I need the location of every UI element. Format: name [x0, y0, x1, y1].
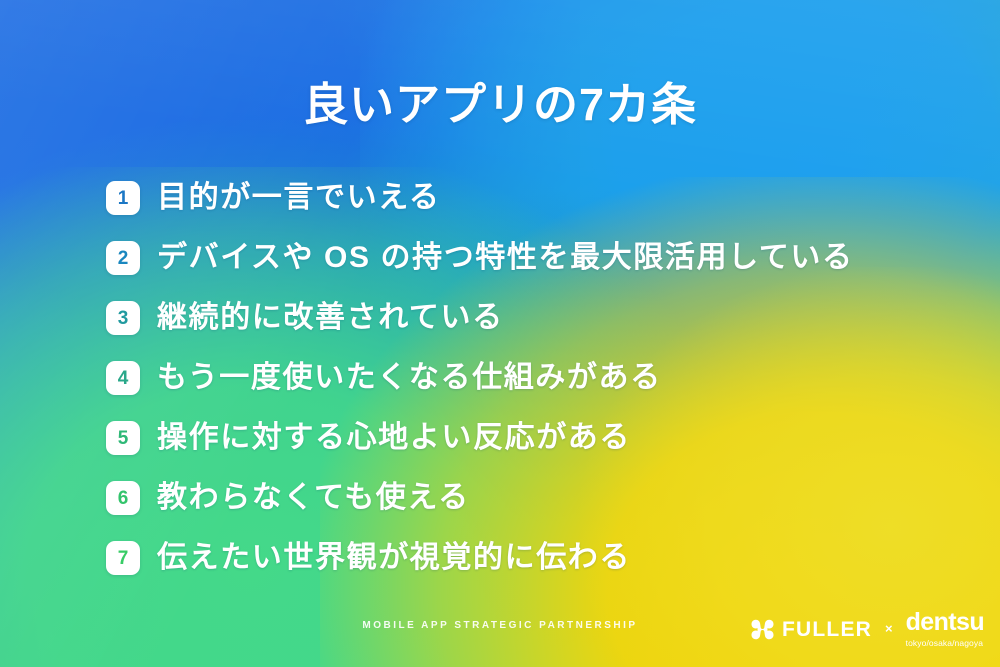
- list-item-number: 6: [118, 489, 129, 508]
- list-item-number: 2: [118, 249, 129, 268]
- list-item-label: デバイスや OS の持つ特性を最大限活用している: [157, 239, 854, 277]
- seven-rules-list: 1 目的が一言でいえる 2 デバイスや OS の持つ特性を最大限活用している 3…: [106, 172, 946, 592]
- list-item: 3 継続的に改善されている: [106, 292, 946, 344]
- footer: MOBILE APP STRATEGIC PARTNERSHIP FULLER …: [0, 609, 1000, 649]
- dentsu-logo: dentsu tokyo/osaka/nagoya: [906, 610, 984, 648]
- dentsu-subtitle: tokyo/osaka/nagoya: [906, 639, 983, 648]
- fuller-mark-icon: [751, 619, 774, 640]
- list-item: 2 デバイスや OS の持つ特性を最大限活用している: [106, 232, 946, 284]
- list-item-number-badge: 5: [106, 421, 140, 455]
- list-item-label: 継続的に改善されている: [157, 299, 504, 337]
- list-item-label: 目的が一言でいえる: [157, 179, 441, 217]
- slide-root: 良いアプリの7カ条 1 目的が一言でいえる 2 デバイスや OS の持つ特性を最…: [0, 0, 1000, 667]
- list-item: 7 伝えたい世界観が視覚的に伝わる: [106, 532, 946, 584]
- list-item: 5 操作に対する心地よい反応がある: [106, 412, 946, 464]
- list-item-number-badge: 4: [106, 361, 140, 395]
- logo-separator-icon: ×: [885, 622, 893, 637]
- list-item-number: 5: [118, 429, 129, 448]
- slide-content: 良いアプリの7カ条 1 目的が一言でいえる 2 デバイスや OS の持つ特性を最…: [0, 0, 1000, 667]
- list-item-label: 教わらなくても使える: [157, 479, 470, 517]
- list-item: 6 教わらなくても使える: [106, 472, 946, 524]
- list-item-number-badge: 6: [106, 481, 140, 515]
- list-item-label: 伝えたい世界観が視覚的に伝わる: [157, 539, 631, 577]
- list-item-label: 操作に対する心地よい反応がある: [157, 419, 631, 457]
- dentsu-wordmark: dentsu: [906, 610, 984, 635]
- footer-logos: FULLER × dentsu tokyo/osaka/nagoya: [751, 609, 984, 649]
- fuller-wordmark: FULLER: [782, 619, 872, 640]
- list-item-number-badge: 3: [106, 301, 140, 335]
- list-item-number-badge: 2: [106, 241, 140, 275]
- list-item-number: 4: [118, 369, 129, 388]
- list-item-number-badge: 7: [106, 541, 140, 575]
- list-item: 1 目的が一言でいえる: [106, 172, 946, 224]
- list-item: 4 もう一度使いたくなる仕組みがある: [106, 352, 946, 404]
- list-item-number-badge: 1: [106, 181, 140, 215]
- list-item-number: 1: [118, 189, 129, 208]
- page-title: 良いアプリの7カ条: [0, 78, 1000, 132]
- list-item-number: 3: [118, 309, 129, 328]
- list-item-label: もう一度使いたくなる仕組みがある: [157, 359, 662, 397]
- fuller-logo: FULLER: [751, 619, 872, 640]
- list-item-number: 7: [118, 549, 129, 568]
